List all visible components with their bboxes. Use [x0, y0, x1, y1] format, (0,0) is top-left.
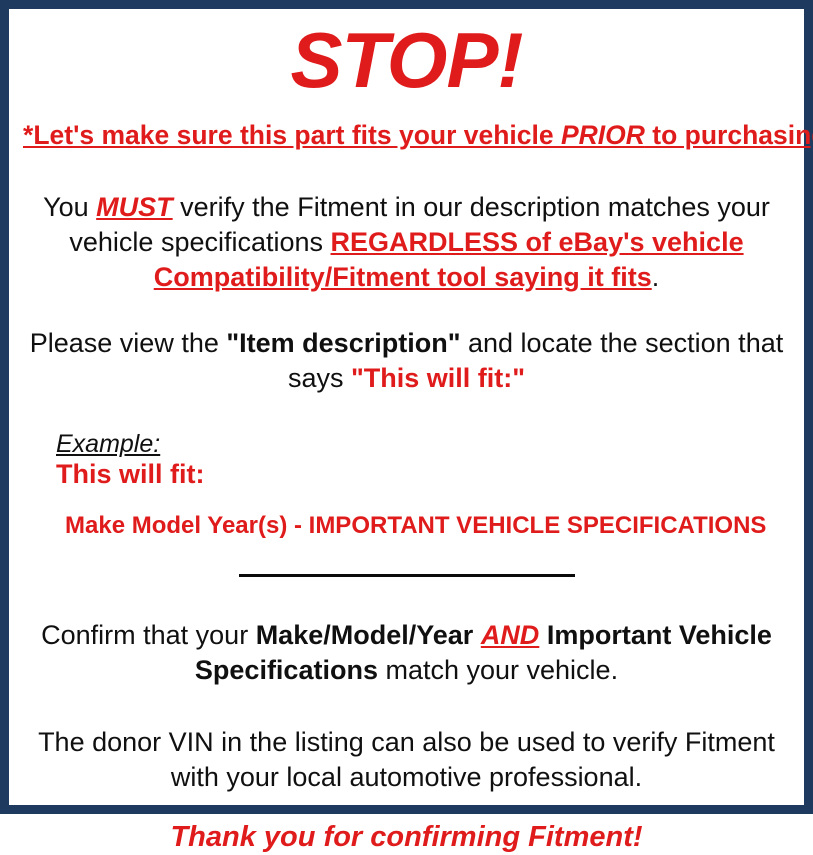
- example-label: Example:: [56, 430, 160, 458]
- example-fit-heading: This will fit:: [56, 458, 790, 490]
- must-part3: .: [652, 262, 660, 292]
- must-part1: You: [43, 192, 96, 222]
- divider-wrapper: [23, 540, 790, 585]
- emphasis-this-will-fit: "This will fit:": [351, 363, 525, 393]
- subtitle-prefix: *Let's make sure this part fits your veh…: [23, 120, 561, 150]
- example-label-row: Example:: [56, 430, 790, 458]
- emphasis-and: AND: [481, 620, 540, 650]
- example-spec-line: Make Model Year(s) - IMPORTANT VEHICLE S…: [56, 490, 790, 540]
- paragraph-confirm: Confirm that your Make/Model/Year AND Im…: [23, 585, 790, 688]
- emphasis-make-model-year: Make/Model/Year: [256, 620, 474, 650]
- fitment-notice-card: STOP! *Let's make sure this part fits yo…: [0, 0, 813, 814]
- view-part1: Please view the: [30, 328, 227, 358]
- confirm-part3: [539, 620, 547, 650]
- subtitle-banner: *Let's make sure this part fits your veh…: [23, 101, 790, 152]
- confirm-part2: [473, 620, 481, 650]
- section-divider: [239, 574, 575, 577]
- example-block: Example: This will fit: Make Model Year(…: [23, 396, 790, 540]
- closing-thanks: Thank you for confirming Fitment!: [23, 795, 790, 855]
- paragraph-must-verify: You MUST verify the Fitment in our descr…: [23, 152, 790, 295]
- emphasis-must: MUST: [96, 192, 173, 222]
- page-title: STOP!: [23, 9, 790, 101]
- emphasis-item-description: "Item description": [226, 328, 460, 358]
- paragraph-donor-vin: The donor VIN in the listing can also be…: [23, 688, 790, 795]
- confirm-part1: Confirm that your: [41, 620, 256, 650]
- subtitle-suffix: to purchasing*: [645, 120, 813, 150]
- confirm-part4: match your vehicle.: [378, 655, 618, 685]
- paragraph-view-description: Please view the "Item description" and l…: [23, 295, 790, 396]
- subtitle-emphasis-prior: PRIOR: [561, 120, 645, 150]
